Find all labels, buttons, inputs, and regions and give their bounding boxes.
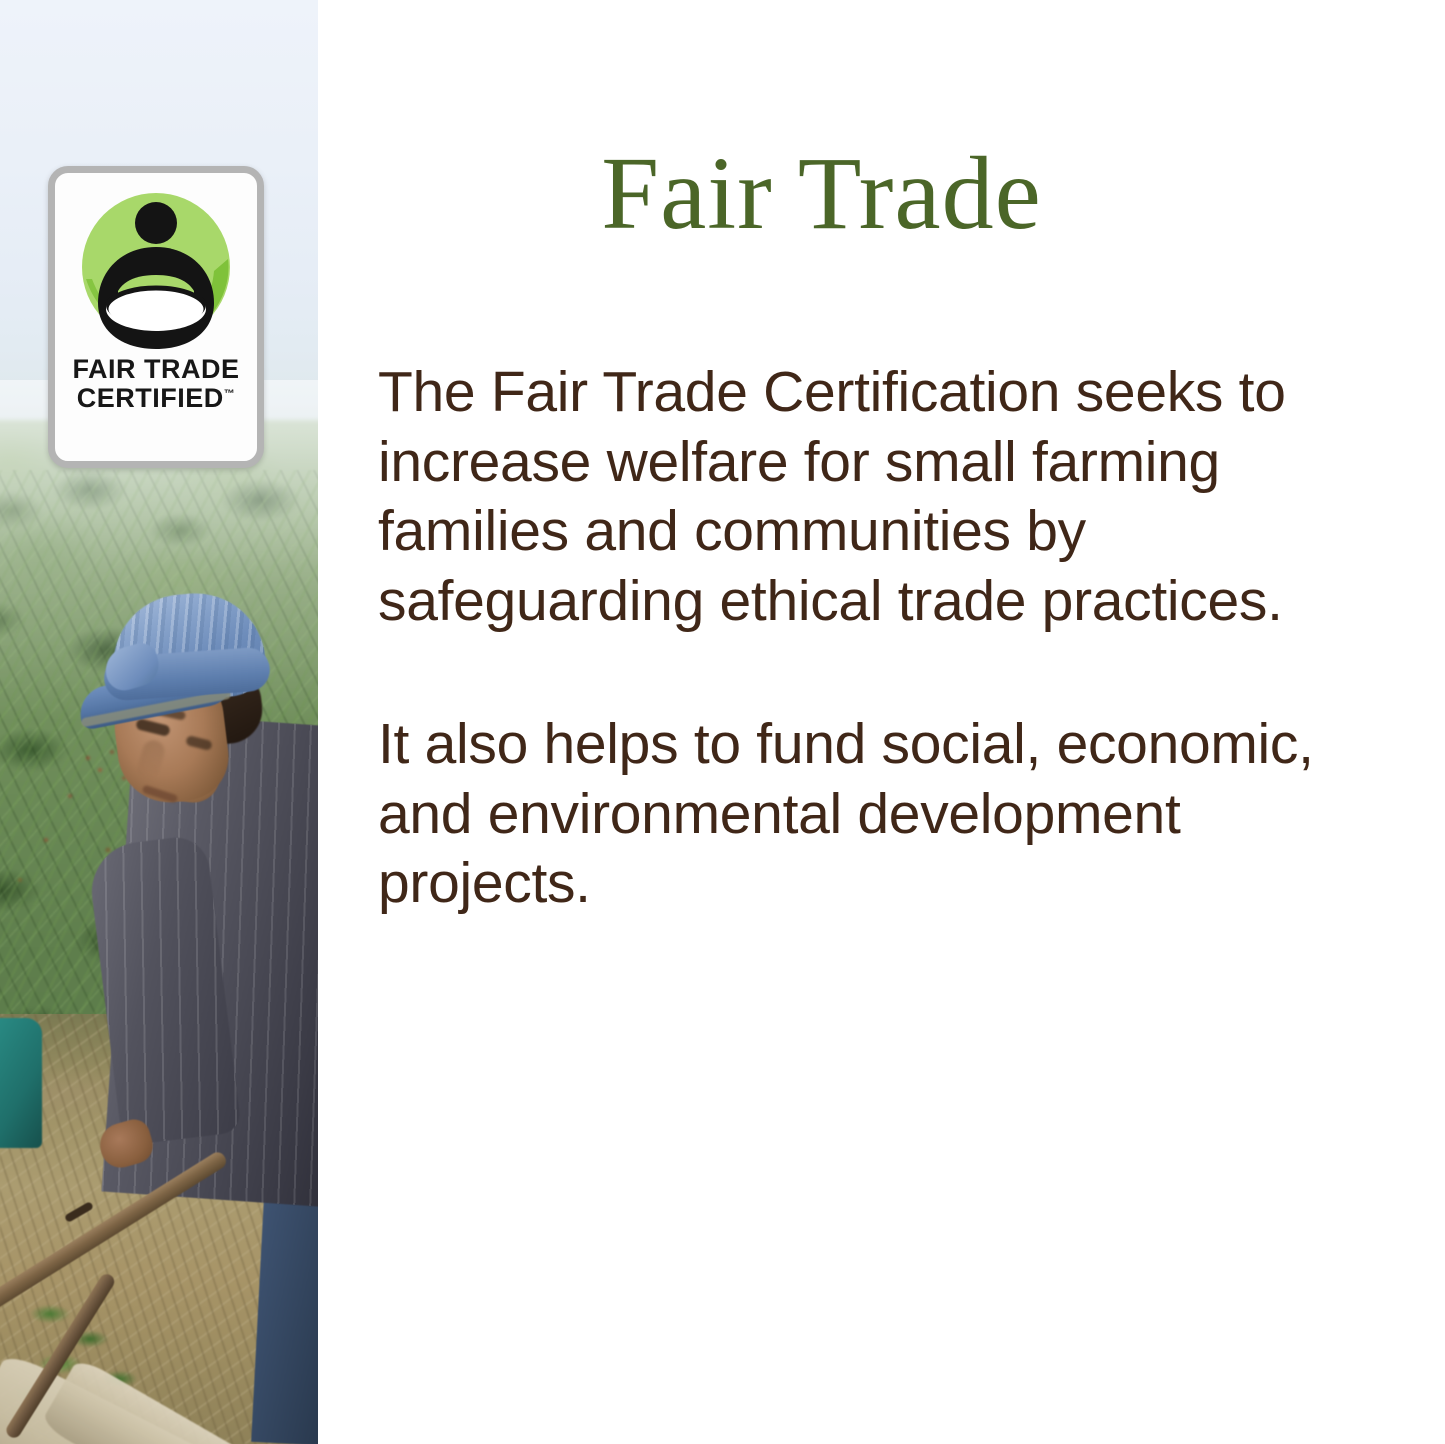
second-worker-sliver xyxy=(0,1018,42,1148)
content-panel: Fair Trade The Fair Trade Certification … xyxy=(318,0,1445,1444)
fair-trade-info-card: FAIR TRADE CERTIFIED™ Fair Trade The Fai… xyxy=(0,0,1445,1444)
paragraph-2: It also helps to fund social, economic, … xyxy=(378,710,1378,919)
fair-trade-certified-seal: FAIR TRADE CERTIFIED™ xyxy=(48,166,264,468)
paragraph-1: The Fair Trade Certification seeks to in… xyxy=(378,358,1378,636)
fair-trade-figure-icon xyxy=(72,187,240,355)
seal-line-2-text: CERTIFIED xyxy=(77,383,224,413)
body-text-block: The Fair Trade Certification seeks to in… xyxy=(378,358,1378,919)
trademark-symbol: ™ xyxy=(224,388,236,400)
seal-text: FAIR TRADE CERTIFIED™ xyxy=(55,355,257,413)
seal-line-2: CERTIFIED™ xyxy=(55,384,257,413)
coffee-farmer-photo: FAIR TRADE CERTIFIED™ xyxy=(0,0,318,1444)
seal-line-1: FAIR TRADE xyxy=(55,355,257,384)
paragraph-spacer xyxy=(378,636,1378,710)
page-title: Fair Trade xyxy=(318,142,1445,246)
